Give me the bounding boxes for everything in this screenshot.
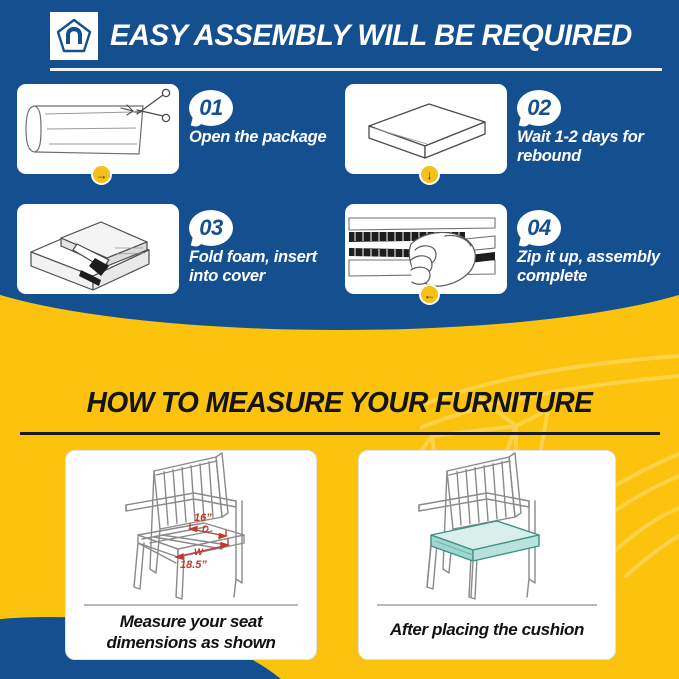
measure-section-title: HOW TO MEASURE YOUR FURNITURE (10, 386, 669, 420)
step-number: 04 (527, 217, 550, 239)
measure-card-caption: Measure your seat dimensions as shown (76, 611, 306, 653)
assembly-step-02: ↓ 02 Wait 1-2 days for rebound (345, 84, 667, 186)
infographic-root: HOW TO MEASURE YOUR FURNITURE (0, 0, 679, 679)
card-divider (377, 604, 597, 606)
step-label: Fold foam, insert into cover (189, 248, 339, 286)
width-letter-label: W (194, 547, 204, 558)
measure-title-divider (20, 432, 660, 435)
step-label: Zip it up, assembly complete (517, 248, 677, 286)
chair-dimension-illustration: 16” D W 18.5” (66, 451, 316, 603)
step-number-badge: 01 (189, 90, 233, 126)
step-label: Open the package (189, 128, 339, 147)
step-number-badge: 03 (189, 210, 233, 246)
assembly-header: EASY ASSEMBLY WILL BE REQUIRED (0, 0, 679, 78)
measure-card-caption: After placing the cushion (369, 619, 605, 640)
teal-cushion (431, 521, 539, 561)
step-number-badge: 02 (517, 90, 561, 126)
header-divider (50, 68, 662, 71)
arrow-down-badge: ↓ (419, 164, 440, 185)
chair-cushion-illustration (359, 451, 615, 603)
step-number: 01 (199, 97, 222, 119)
assembly-step-03: 03 Fold foam, insert into cover (17, 204, 337, 306)
measure-card-cushion: After placing the cushion (358, 450, 616, 660)
step-03-illustration (17, 204, 179, 294)
step-label: Wait 1-2 days for rebound (517, 128, 677, 166)
measure-card-dimensions: 16” D W 18.5” Measure your seat dimensio… (65, 450, 317, 660)
width-value-label: 18.5” (180, 559, 207, 571)
depth-letter-label: D (202, 524, 209, 535)
step-01-illustration (17, 84, 179, 174)
arrow-left-badge: ← (419, 284, 440, 305)
house-pentagon-logo-icon (50, 12, 98, 60)
arrow-right-badge: → (91, 164, 112, 185)
depth-value-label: 16” (194, 512, 212, 524)
assembly-section-background: EASY ASSEMBLY WILL BE REQUIRED (0, 0, 679, 330)
step-number: 03 (199, 217, 222, 239)
step-02-illustration (345, 84, 507, 174)
page-title: EASY ASSEMBLY WILL BE REQUIRED (110, 14, 632, 58)
step-number-badge: 04 (517, 210, 561, 246)
card-divider (84, 604, 298, 606)
step-number: 02 (527, 97, 550, 119)
step-04-illustration (345, 204, 507, 294)
assembly-step-04: ← 04 Zip it up, assembly complete (345, 204, 667, 306)
assembly-step-01: → 01 Open the package (17, 84, 337, 186)
